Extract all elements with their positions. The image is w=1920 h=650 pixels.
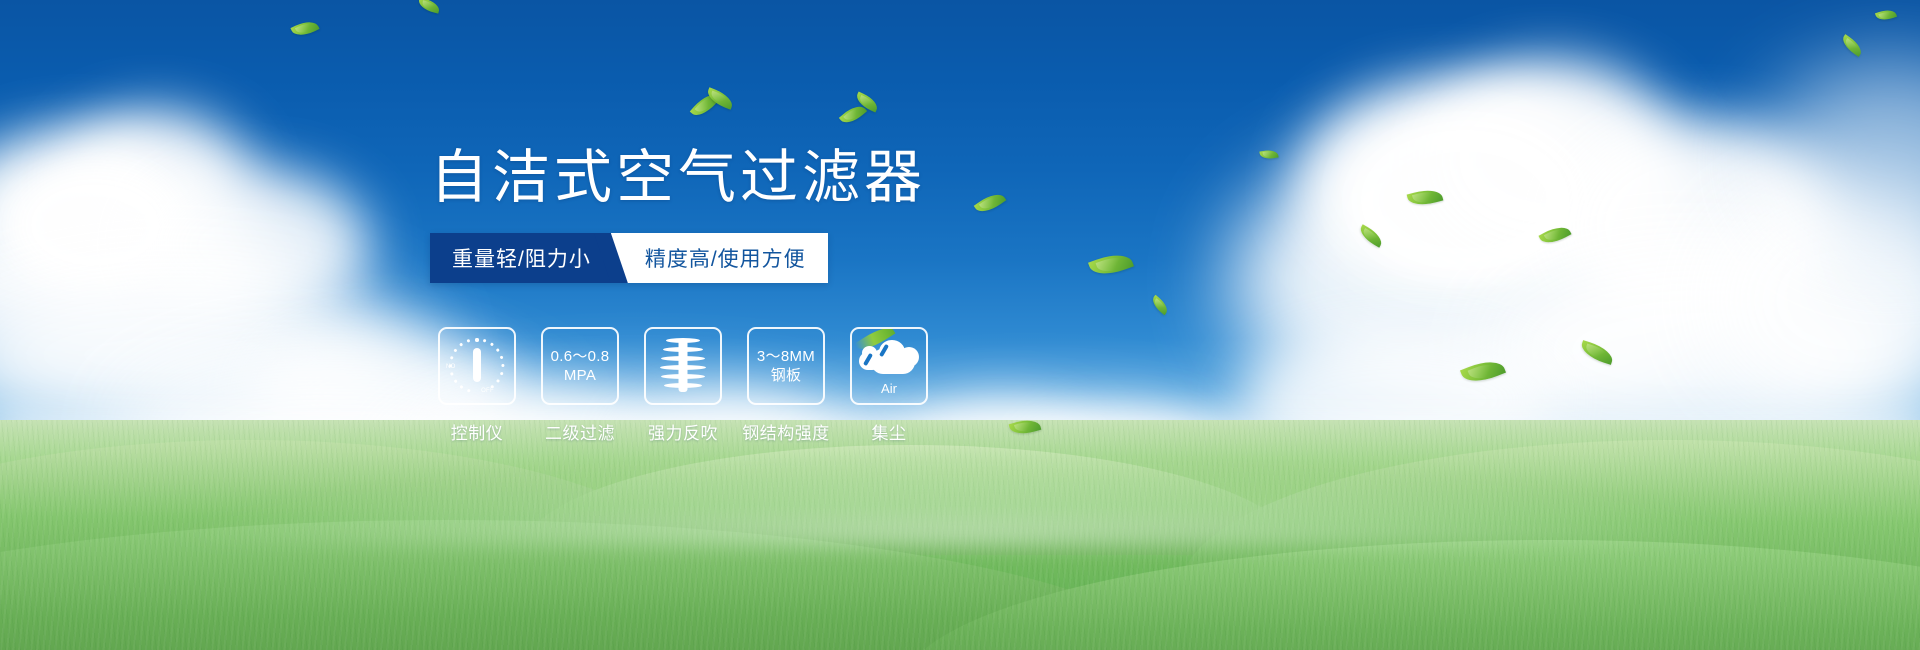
hero-banner: 自洁式空气过滤器 重量轻/阻力小 精度高/使用方便 <box>0 0 1920 650</box>
feature-item-steel: 3～8MM 钢板 钢结构强度 <box>747 327 825 444</box>
feature-icon-box: Air <box>850 327 928 405</box>
filter-stack-icon <box>657 336 709 396</box>
feature-icon-box: 3～8MM 钢板 <box>747 327 825 405</box>
feature-label: 钢结构强度 <box>742 419 830 444</box>
feature-label: 控制仪 <box>451 419 504 444</box>
feature-label: 强力反吹 <box>648 419 718 444</box>
dial-label-on: NO <box>446 364 456 370</box>
banner-content: 自洁式空气过滤器 重量轻/阻力小 精度高/使用方便 <box>0 0 1920 650</box>
feature-item-backblow: 强力反吹 <box>644 327 722 444</box>
steel-plate-text-icon: 3～8MM 钢板 <box>757 347 815 385</box>
tag-feature-2: 精度高/使用方便 <box>611 233 828 283</box>
tag-bar: 重量轻/阻力小 精度高/使用方便 <box>430 233 828 283</box>
feature-item-pressure: 0.6～0.8 MPA 二级过滤 <box>541 327 619 444</box>
dial-label-off: OFF <box>481 388 494 394</box>
feature-icon-box: NO OFF <box>438 327 516 405</box>
tag-feature-1: 重量轻/阻力小 <box>430 233 611 283</box>
air-cloud-icon: Air <box>857 338 921 394</box>
feature-label: 二级过滤 <box>545 419 615 444</box>
feature-item-control: NO OFF 控制仪 <box>438 327 516 444</box>
control-dial-icon: NO OFF <box>446 335 508 397</box>
feature-icon-box <box>644 327 722 405</box>
air-label: Air <box>857 381 921 396</box>
feature-icon-list: NO OFF 控制仪 0.6～0.8 MPA 二级过滤 <box>438 327 928 444</box>
page-title: 自洁式空气过滤器 <box>430 130 926 214</box>
leaf-feature-decor <box>1009 416 1042 438</box>
feature-item-dust: Air 集尘 <box>850 327 928 444</box>
feature-icon-box: 0.6～0.8 MPA <box>541 327 619 405</box>
pressure-text-icon: 0.6～0.8 MPA <box>551 347 610 385</box>
feature-label: 集尘 <box>872 419 907 444</box>
dial-needle <box>473 348 481 382</box>
